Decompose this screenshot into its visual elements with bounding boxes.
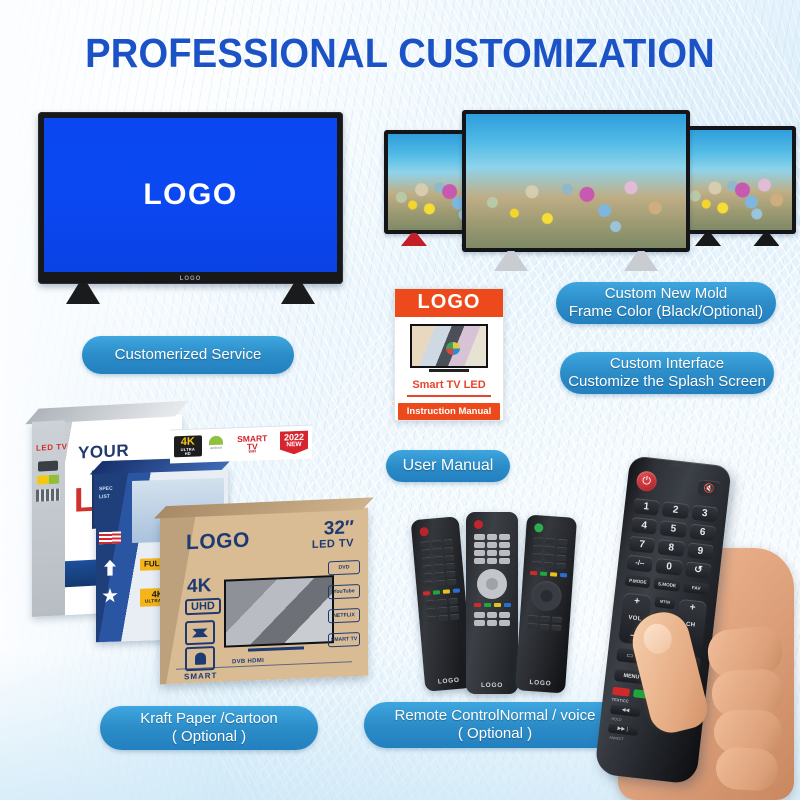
power-button[interactable]: ⏻ [636,470,658,492]
remote-two: LOGO [466,512,518,694]
manual-title-bar: Instruction Manual [398,403,500,420]
feature-badge-row: 4K ULTRA HD android SMART TV WIFI 2022 N… [170,425,312,464]
remote-two-keypad [471,534,513,564]
favorite-button[interactable]: FAV [683,581,709,595]
mts-button[interactable]: MTS/I [654,596,675,609]
remote-one-power-icon [419,527,429,537]
reef-tv-screen [682,130,792,230]
kraft-paper-box: LOGO 32″ LED TV 4K UHD DVB HDMI DVD YouT… [160,508,368,685]
hand-finger-pinky [715,746,779,791]
kraft-side-badge-dvd: DVD [328,560,360,575]
remote-two-dpad [477,569,507,599]
key-4[interactable]: 4 [631,517,658,535]
manual-subtitle: Smart TV LED [412,379,485,391]
reef-tv-silver-stand [462,110,690,252]
blue-box-side-text: SPECLIST [99,485,123,501]
hero-tv-bezel-logo: LOGO [38,276,343,282]
number-keypad: 1 2 3 4 5 6 7 8 9 -/-- 0 ↺ [626,498,718,579]
remote-one-lower-keys [423,597,463,622]
kraft-box-size-block: 32″ LED TV [312,518,354,551]
channel-up[interactable]: + [689,602,696,614]
remote-three-logo: LOGO [515,678,565,688]
badge-smart-tv: SMART TV WIFI [231,434,274,455]
callout-new-mold[interactable]: Custom New Mold Frame Color (Black/Optio… [556,282,776,324]
remote-three-keypad [529,537,571,570]
ir-emitter [670,462,690,469]
key-recall[interactable]: ↺ [685,561,712,579]
instruction-manual-cover: LOGO Smart TV LED Instruction Manual [394,288,504,421]
callout-user-manual-line1: User Manual [403,456,494,476]
reef-tv-screen [466,114,686,248]
callout-kraft-paper-line2: ( Optional ) [172,728,246,746]
kraft-box-tv-stand [248,646,304,651]
callout-customized-service-line1: Customerized Service [115,346,262,364]
key-9[interactable]: 9 [687,542,714,560]
picture-mode-button[interactable]: P.MODE [625,575,651,589]
android-icon: android [208,435,225,456]
page-title: PROFESSIONAL CUSTOMIZATION [28,30,772,77]
red-button[interactable] [612,687,630,697]
white-box-feature-grid [36,488,60,501]
badge-smart-sub: WIFI [231,450,274,455]
manual-header: LOGO [395,289,503,317]
callout-kraft-paper[interactable]: Kraft Paper /Cartoon ( Optional ) [100,706,318,750]
kraft-box-screen-size: 32″ [312,518,354,539]
android-label: android [210,445,221,449]
blue-box-star-icon [102,588,118,605]
key-5[interactable]: 5 [660,520,687,538]
kraft-box-smart-label: SMART [184,671,217,681]
kraft-box-tv-screen [226,577,332,645]
key-7[interactable]: 7 [629,536,656,554]
sound-mode-button[interactable]: S.MODE [654,578,680,592]
badge-4k-sub: ULTRA HD [177,447,199,456]
key-3[interactable]: 3 [691,505,718,523]
remote-one-keypad [417,539,459,588]
manual-tv-stand [429,369,469,372]
remote-three-lower-keys [524,615,565,632]
callout-custom-interface-line2: Customize the Splash Screen [568,373,766,391]
reef-tv-black-stand [678,126,796,234]
white-box-brand-letter: L [74,481,93,521]
badge-4k-ultrahd: 4K ULTRA HD [174,435,202,457]
infographic-canvas: PROFESSIONAL CUSTOMIZATION LOGO LOGO LOG… [0,0,800,800]
callout-kraft-paper-line1: Kraft Paper /Cartoon [140,710,278,728]
android-head-shape [209,435,223,444]
white-box-badge-color [37,475,59,485]
callout-remote-control[interactable]: Remote ControlNormal / voice ( Optional … [364,702,626,748]
kraft-side-badge-smarttv: SMART TV [328,632,360,647]
blue-box-flag-icon [99,531,121,544]
callout-custom-interface-line1: Custom Interface [610,355,724,373]
badge-year-sub: NEW [284,442,304,450]
hero-tv-screen-logo: LOGO [143,178,237,212]
remote-three-power-icon [534,523,544,533]
kraft-box-resolution: 4K [187,576,211,596]
kraft-box-tv-type: LED TV [312,537,354,551]
remote-one-color-keys [422,588,460,595]
callout-customized-service[interactable]: Customerized Service [82,336,294,374]
aspect-label: ASPECT [609,736,691,749]
kraft-side-badge-youtube: YouTube [328,584,360,599]
manual-divider [407,395,491,397]
hero-tv-screen: LOGO [44,118,337,272]
forward-button[interactable]: ▶▶❘ [608,724,639,736]
callout-new-mold-line2: Frame Color (Black/Optional) [569,303,763,321]
key-1[interactable]: 1 [633,498,660,516]
callout-remote-control-line2: ( Optional ) [458,725,532,743]
remote-two-lower-keys [471,612,513,626]
manual-header-logo: LOGO [418,291,481,314]
white-box-side-logo: LED TV [36,442,67,453]
kraft-box-logo: LOGO [186,529,250,556]
key-2[interactable]: 2 [662,501,689,519]
remote-three-color-keys [528,571,568,578]
remote-two-power-icon [474,520,483,529]
remote-three-dpad [531,580,563,612]
remote-two-color-keys [471,603,513,607]
mute-button[interactable]: 🔇 [697,479,721,497]
hero-tv: LOGO LOGO [38,112,343,284]
manual-color-wheel-icon [446,342,460,355]
kraft-side-badge-netflix: NETFLIX [328,608,360,623]
key-0[interactable]: 0 [656,558,683,576]
kraft-box-widescreen-icon [185,620,215,645]
remote-two-logo: LOGO [466,682,518,689]
callout-remote-control-line1: Remote ControlNormal / voice [395,707,596,725]
key-6[interactable]: 6 [689,524,716,542]
badge-year-new: 2022 NEW [280,431,308,455]
kraft-box-tv-photo [224,575,334,648]
kraft-box-uhd-badge: UHD [185,598,221,616]
callout-custom-interface[interactable]: Custom Interface Customize the Splash Sc… [560,352,774,394]
manual-tv-image [410,324,488,369]
this-side-up-icon [104,560,116,576]
hand-holding-remote: ⏻ 🔇 1 2 3 4 5 6 7 8 9 -/-- 0 ↺ P.MODE S.… [596,452,800,800]
white-box-badge-dark [38,461,58,472]
key-8[interactable]: 8 [658,539,685,557]
callout-new-mold-line1: Custom New Mold [605,285,728,303]
key-dash[interactable]: -/-- [626,555,653,573]
rewind-button[interactable]: ◀◀ [610,705,641,717]
remote-top-row: ⏻ 🔇 [636,470,722,499]
volume-up[interactable]: + [633,596,640,608]
callout-user-manual[interactable]: User Manual [386,450,510,482]
